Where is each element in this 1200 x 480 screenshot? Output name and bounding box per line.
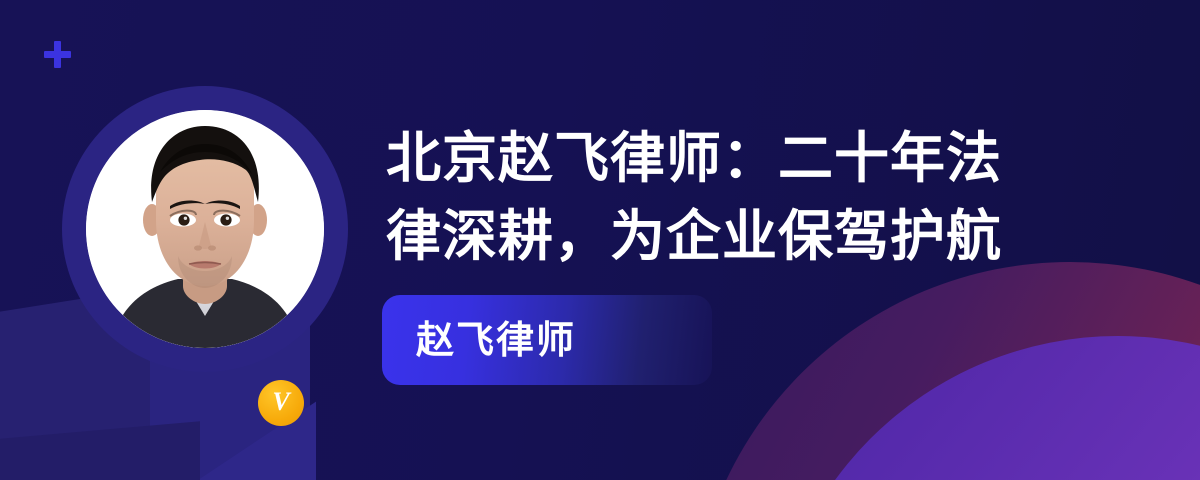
verified-v-icon: V bbox=[258, 380, 304, 426]
avatar: V bbox=[62, 86, 348, 372]
avatar-photo bbox=[86, 110, 324, 348]
plus-icon bbox=[44, 41, 71, 68]
page-title: 北京赵飞律师：二十年法 律深耕，为企业保驾护航 bbox=[386, 119, 1076, 275]
promo-banner: V 北京赵飞律师：二十年法 律深耕，为企业保驾护航 赵飞律师 bbox=[0, 0, 1200, 480]
verified-badge-glyph: V bbox=[272, 389, 289, 415]
banner-content: 北京赵飞律师：二十年法 律深耕，为企业保驾护航 赵飞律师 bbox=[386, 0, 1126, 480]
lawyer-name-button[interactable]: 赵飞律师 bbox=[382, 295, 712, 385]
